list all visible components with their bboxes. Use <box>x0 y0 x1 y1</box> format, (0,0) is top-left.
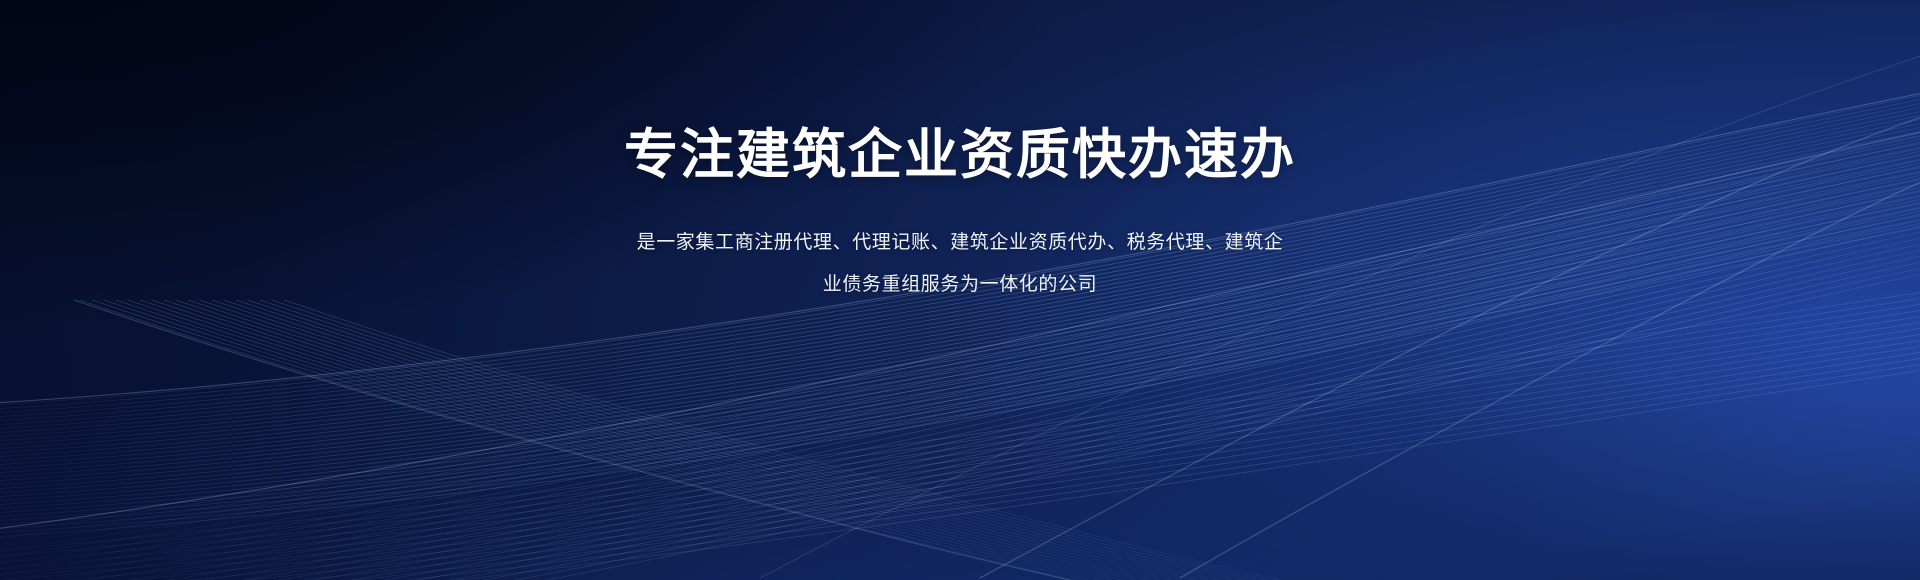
banner-subtitle-line-2: 业债务重组服务为一体化的公司 <box>588 264 1332 306</box>
banner-content: 专注建筑企业资质快办速办 是一家集工商注册代理、代理记账、建筑企业资质代办、税务… <box>0 0 1920 580</box>
banner-headline: 专注建筑企业资质快办速办 <box>624 124 1296 188</box>
hero-banner: 专注建筑企业资质快办速办 是一家集工商注册代理、代理记账、建筑企业资质代办、税务… <box>0 0 1920 580</box>
banner-subtitle-line-1: 是一家集工商注册代理、代理记账、建筑企业资质代办、税务代理、建筑企 <box>588 222 1332 264</box>
banner-subtitle: 是一家集工商注册代理、代理记账、建筑企业资质代办、税务代理、建筑企 业债务重组服… <box>588 222 1332 306</box>
